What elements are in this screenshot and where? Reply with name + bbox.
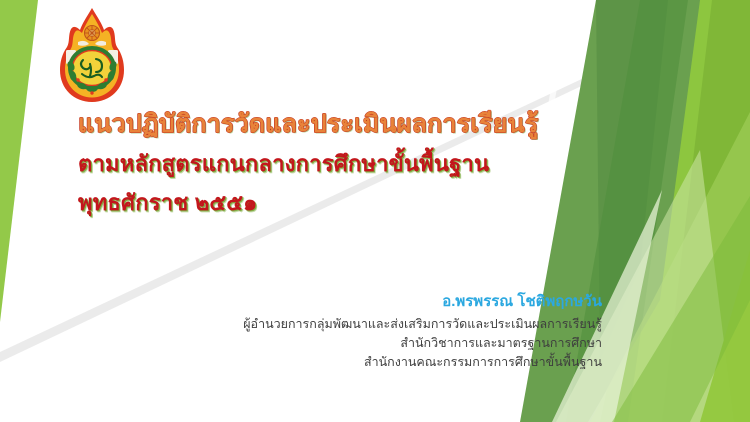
presenter-affiliation-1: ผู้อำนวยการกลุ่มพัฒนาและส่งเสริมการวัดแล…: [132, 315, 602, 334]
bottom-right-wedge: [700, 250, 750, 422]
presenter-name: อ.พรพรรณ โชติพฤกษวัน: [132, 292, 602, 312]
right-mid-green-field: [662, 0, 750, 422]
title-line-2: ตามหลักสูตรแกนกลางการศึกษาขั้นพื้นฐาน: [78, 152, 638, 177]
obec-emblem-icon: [58, 6, 126, 106]
title-slide: แนวปฏิบัติการวัดและประเมินผลการเรียนรู้ …: [0, 0, 750, 422]
left-green-wedge: [0, 0, 38, 322]
presenter-affiliation-2: สำนักวิชาการและมาตรฐานการศึกษา: [132, 334, 602, 353]
title-line-1: แนวปฏิบัติการวัดและประเมินผลการเรียนรู้: [78, 110, 638, 138]
title-line-3: พุทธศักราช ๒๕๕๑: [78, 191, 638, 216]
presenter-affiliation-3: สำนักงานคณะกรรมการการศึกษาขั้นพื้นฐาน: [132, 353, 602, 372]
presenter-info: อ.พรพรรณ โชติพฤกษวัน ผู้อำนวยการกลุ่มพัฒ…: [132, 292, 602, 373]
emblem-wheel-spokes: [85, 26, 99, 40]
bottom-mid-wedge: [612, 196, 750, 422]
slide-title: แนวปฏิบัติการวัดและประเมินผลการเรียนรู้ …: [78, 110, 638, 215]
